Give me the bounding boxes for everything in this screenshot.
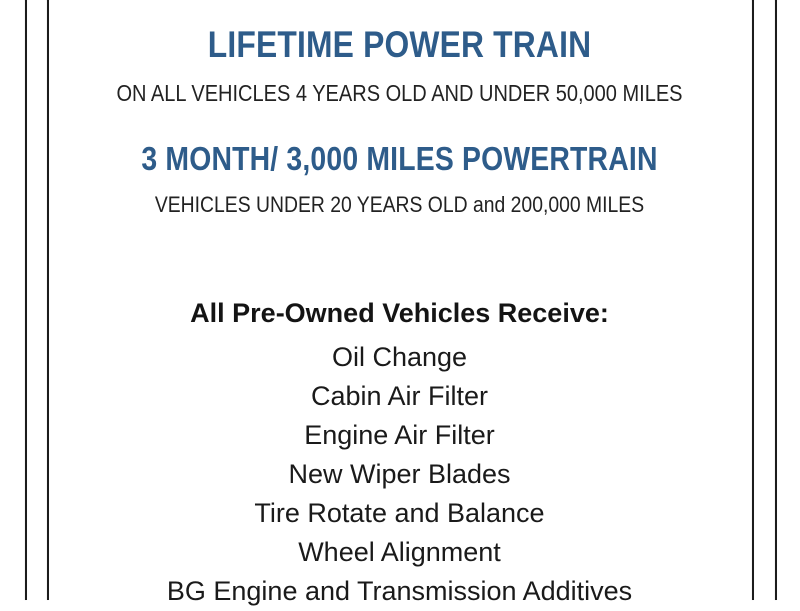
poster-content: LIFETIME POWER TRAIN ON ALL VEHICLES 4 Y… — [47, 0, 752, 600]
service-list-item: Wheel Alignment — [47, 533, 752, 572]
page-rule-left-outer — [25, 0, 27, 600]
service-list-item: Oil Change — [47, 338, 752, 377]
three-month-powertrain-subline: VEHICLES UNDER 20 YEARS OLD and 200,000 … — [89, 194, 709, 216]
services-list: Oil ChangeCabin Air FilterEngine Air Fil… — [47, 338, 752, 611]
warranty-poster: LIFETIME POWER TRAIN ON ALL VEHICLES 4 Y… — [0, 0, 800, 600]
page-rule-right-outer — [775, 0, 777, 600]
service-list-item: Tire Rotate and Balance — [47, 494, 752, 533]
page-rule-right-inner — [752, 0, 754, 600]
lifetime-powertrain-subline: ON ALL VEHICLES 4 YEARS OLD AND UNDER 50… — [93, 82, 706, 105]
service-list-item: Cabin Air Filter — [47, 377, 752, 416]
service-list-item: Engine Air Filter — [47, 416, 752, 455]
service-list-item: BG Engine and Transmission Additives — [47, 572, 752, 611]
pre-owned-services-block: All Pre-Owned Vehicles Receive: Oil Chan… — [47, 300, 752, 611]
services-heading: All Pre-Owned Vehicles Receive: — [47, 300, 752, 327]
three-month-powertrain-headline: 3 MONTH/ 3,000 MILES POWERTRAIN — [96, 142, 702, 175]
service-list-item: New Wiper Blades — [47, 455, 752, 494]
lifetime-powertrain-headline: LIFETIME POWER TRAIN — [96, 26, 702, 63]
